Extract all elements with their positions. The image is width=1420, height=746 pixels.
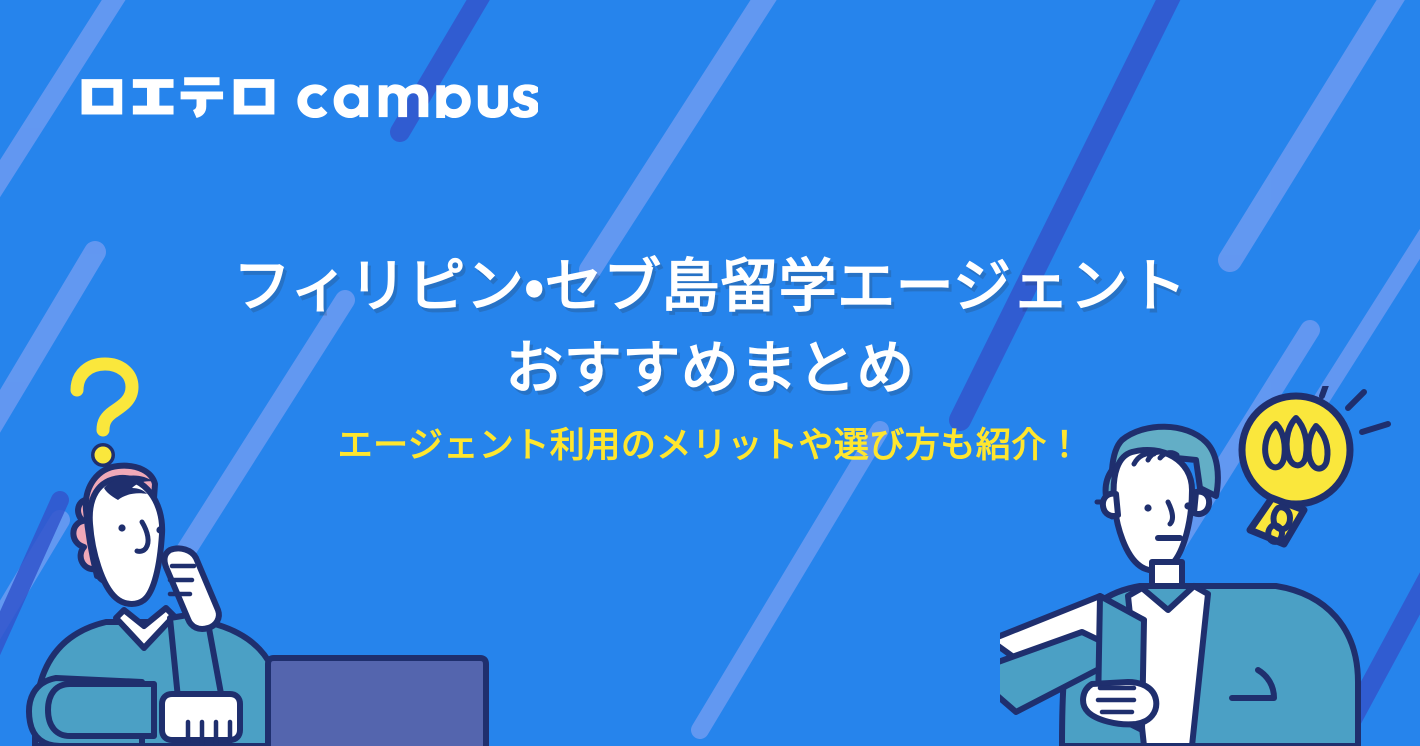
logo-mark bbox=[78, 72, 538, 118]
illustration-woman-at-laptop bbox=[20, 426, 540, 746]
illustration-person-with-book bbox=[1000, 386, 1420, 746]
banner-root: コエテコ campus by GMO bbox=[0, 0, 1420, 746]
site-logo[interactable]: コエテコ campus by GMO bbox=[78, 72, 538, 118]
